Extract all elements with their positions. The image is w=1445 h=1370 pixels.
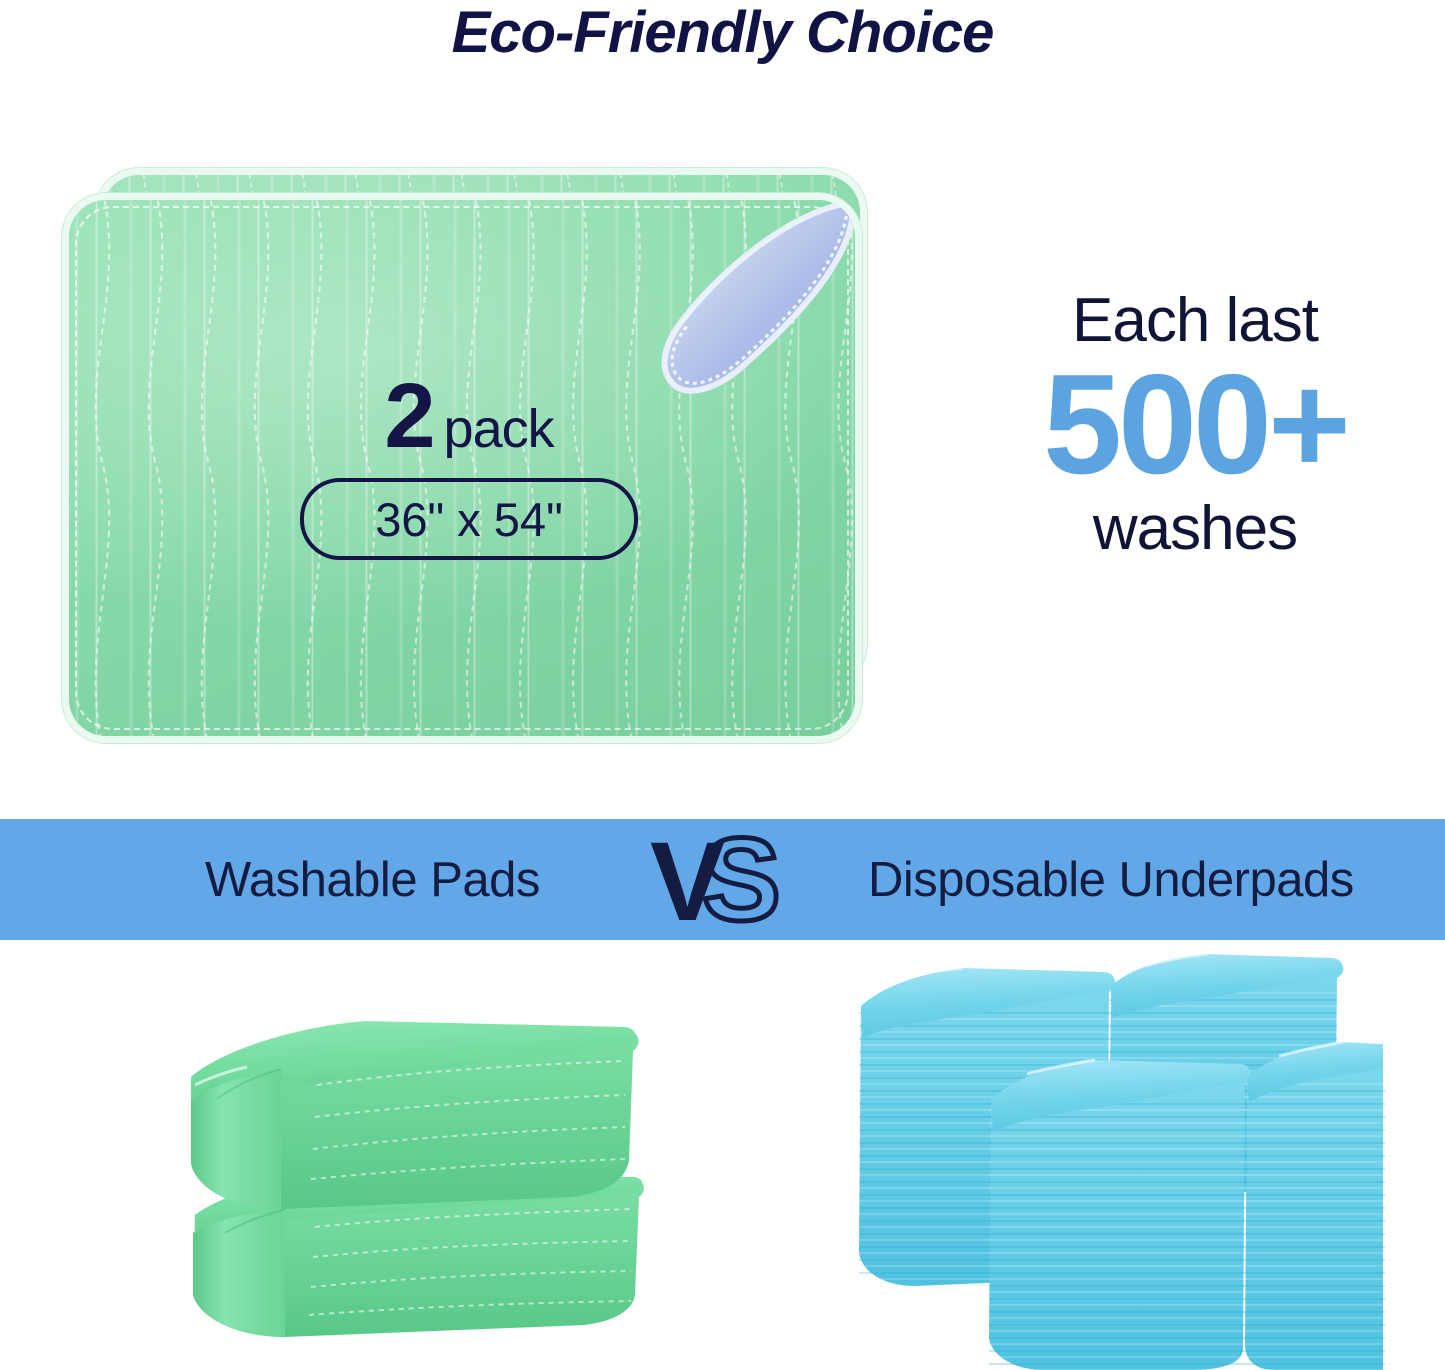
- stat-bottom-label: washes: [985, 498, 1405, 560]
- pad-front-layer: 2 pack 36" x 54": [62, 193, 862, 743]
- stat-top-label: Each last: [985, 290, 1405, 352]
- page-title: Eco-Friendly Choice: [0, 0, 1445, 70]
- infographic-canvas: Eco-Friendly Choice: [0, 0, 1445, 1370]
- pack-count-line: 2 pack: [259, 370, 679, 462]
- svg-text:S: S: [702, 828, 781, 932]
- stack-front-right: [1245, 1042, 1385, 1370]
- pad-label-group: 2 pack 36" x 54": [259, 370, 679, 560]
- washes-stat-block: Each last 500+ washes: [985, 290, 1405, 560]
- comparison-band: Washable Pads V S Disposable Underpads: [0, 819, 1445, 940]
- size-badge: 36" x 54": [300, 478, 638, 560]
- folded-washable-pads-image: [165, 965, 665, 1365]
- pack-count-number: 2: [384, 370, 433, 462]
- disposable-underpads-stacks-image: [855, 950, 1385, 1370]
- pack-count-word: pack: [444, 402, 554, 456]
- comparison-left-label: Washable Pads: [205, 852, 540, 908]
- stack-front-left: [989, 1060, 1251, 1370]
- folded-pad-upper: [191, 1021, 639, 1209]
- comparison-right-label: Disposable Underpads: [868, 852, 1354, 908]
- stat-value: 500+: [985, 354, 1405, 496]
- hero-product-image: 2 pack 36" x 54": [0, 140, 920, 760]
- vs-icon: V S: [650, 828, 810, 932]
- comparison-images: [0, 940, 1445, 1370]
